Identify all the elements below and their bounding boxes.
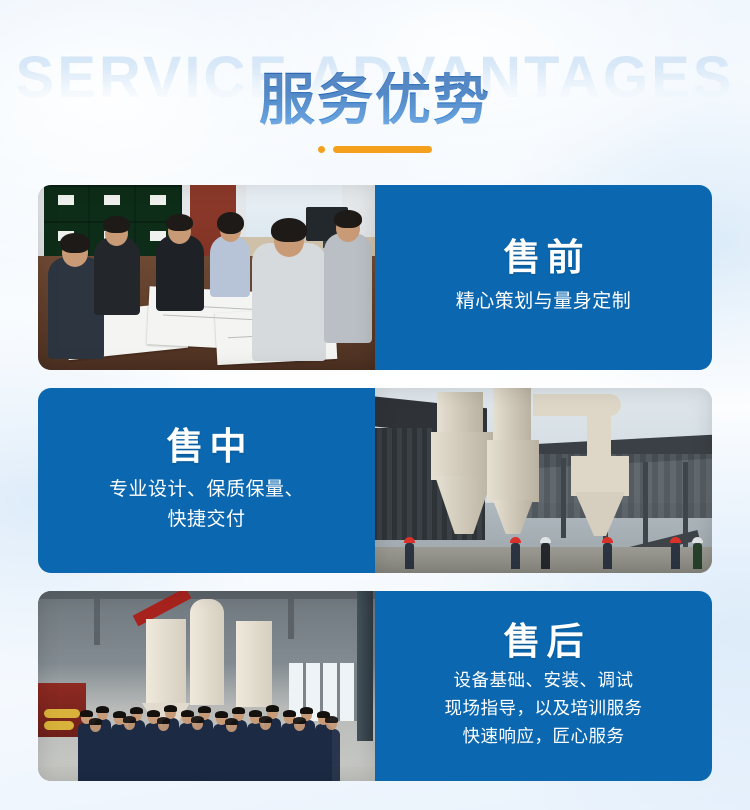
plant-installation-photo	[375, 388, 712, 573]
in-sale-line-2: 快捷交付	[109, 505, 304, 534]
advantage-card-in-sale[interactable]: 售中 专业设计、保质保量、 快捷交付	[38, 388, 712, 573]
pre-sale-lines: 精心策划与量身定制	[456, 287, 632, 316]
in-sale-line-1: 专业设计、保质保量、	[109, 475, 304, 504]
accent-bar-icon	[333, 146, 432, 153]
meeting-room-photo	[38, 185, 375, 370]
pre-sale-title: 售前	[498, 238, 590, 279]
pre-sale-line-1: 精心策划与量身定制	[456, 287, 632, 316]
after-sale-line-1: 设备基础、安装、调试	[445, 666, 643, 694]
after-sale-line-3: 快速响应，匠心服务	[445, 722, 643, 750]
advantage-card-after-sale[interactable]: 售后 设备基础、安装、调试 现场指导，以及培训服务 快速响应，匠心服务	[38, 591, 712, 781]
page-title: 服务优势	[0, 72, 750, 128]
in-sale-title: 售中	[161, 427, 253, 468]
after-sale-panel: 售后 设备基础、安装、调试 现场指导，以及培训服务 快速响应，匠心服务	[375, 591, 712, 781]
after-sale-lines: 设备基础、安装、调试 现场指导，以及培训服务 快速响应，匠心服务	[445, 666, 643, 750]
team-group-photo	[38, 591, 375, 781]
advantage-card-pre-sale[interactable]: 售前 精心策划与量身定制	[38, 185, 712, 370]
in-sale-panel: 售中 专业设计、保质保量、 快捷交付	[38, 388, 375, 573]
after-sale-title: 售后	[498, 622, 590, 663]
advantage-card-list: 售前 精心策划与量身定制 售中 专业设计、保质保量、 快捷交付	[38, 185, 712, 781]
pre-sale-panel: 售前 精心策划与量身定制	[375, 185, 712, 370]
after-sale-line-2: 现场指导，以及培训服务	[445, 694, 643, 722]
accent-dot-icon	[318, 146, 325, 153]
page-header: SERVICE ADVANTAGES 服务优势	[0, 0, 750, 172]
in-sale-lines: 专业设计、保质保量、 快捷交付	[109, 475, 304, 534]
title-accent-underline	[0, 146, 750, 153]
